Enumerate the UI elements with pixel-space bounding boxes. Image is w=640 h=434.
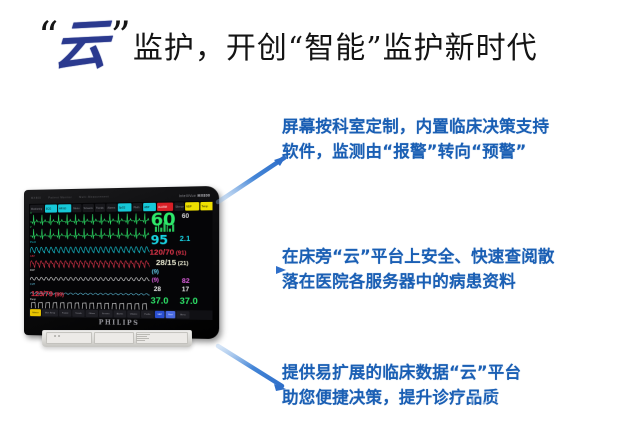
monitor-tab-label-5: Trends	[95, 206, 105, 209]
softkey-label-0: Silence	[32, 312, 39, 314]
numeric-pap-value: 28/15	[156, 259, 176, 267]
numeric-resp-value: 17	[182, 287, 189, 293]
numeric-nbp-mean: (89)	[55, 292, 64, 298]
monitor-tab-label-7: SpO2	[118, 206, 132, 209]
numeric-tblood: 37.0	[151, 296, 169, 305]
softkey-label-11: Menu	[180, 314, 185, 316]
numeric-parameter-panel: 6060952.1120/70(91)28/15(21)(9)(9)822817…	[150, 210, 213, 301]
monitor-tab-label-9: ABP	[143, 205, 156, 208]
softkey-label-1: Main Setup	[45, 312, 55, 314]
softkey-label-7: Volume	[130, 313, 137, 315]
softkey-start[interactable]: Start	[166, 311, 176, 318]
hr-trend-bar	[172, 224, 174, 231]
numeric-pap: 28/15(21)	[156, 259, 188, 268]
monitor-tab-label-3: Menu	[72, 207, 81, 210]
hr-trend-bars	[155, 222, 174, 232]
callout-text-2: 在床旁“云”平台上安全、快速查阅散 落在医院各服务器中的病患资料	[282, 244, 555, 294]
numeric-nbp-value: 123/79	[31, 289, 53, 298]
waveform-trace-ii	[30, 211, 150, 227]
waveform-label-ii: II	[30, 213, 32, 215]
softkey-label-4: Others	[89, 312, 95, 314]
monitor-tab-12[interactable]: NBP	[185, 202, 199, 211]
waveform-label-cvp: CVP	[30, 285, 35, 287]
numeric-tskin-value: 37.0	[180, 296, 198, 305]
page-title: “ 云 ” 监护，开创“智能”监护新时代	[38, 14, 628, 76]
model-prefix: IntelliVue	[179, 193, 196, 198]
numeric-cvp-value: (9)	[152, 270, 159, 276]
monitor-tab-3[interactable]: Menu	[72, 204, 81, 212]
monitor-base-module	[42, 330, 192, 347]
numeric-abp-value: 120/70	[150, 248, 175, 256]
numeric-nbp: 123/79 (89)	[31, 289, 64, 298]
monitor-tab-label-8: Pleth	[133, 206, 143, 209]
monitor-tab-13[interactable]: Temp	[200, 202, 212, 211]
waveform-label-v: V	[30, 227, 32, 229]
numeric-pvc-value: 60	[182, 214, 189, 220]
callout-arrow-3-icon	[214, 340, 290, 396]
waveform-trace-pleth	[30, 241, 150, 256]
softkey-label-6: Alarms	[117, 313, 124, 315]
numeric-abp-extra: (91)	[176, 252, 187, 258]
softkey-patient[interactable]: Patient	[59, 309, 71, 316]
waveform-label-pap: PAP	[30, 270, 35, 272]
monitor-tab-4[interactable]: Screens	[83, 204, 94, 212]
numeric-pap-extra: (21)	[178, 262, 189, 268]
hr-trend-bar	[164, 222, 166, 231]
softkey-silence[interactable]: Silence	[30, 309, 41, 316]
title-rest-text: 监护，开创“智能”监护新时代	[133, 23, 538, 67]
waveform-trace-pap	[30, 270, 150, 285]
numeric-spo2: 95	[151, 234, 168, 247]
monitor-tab-label-1: ECG	[45, 207, 57, 210]
numeric-icp: (9)	[152, 279, 159, 285]
slide-canvas: “ 云 ” 监护，开创“智能”监护新时代 MX800 Patient Monit…	[0, 0, 640, 434]
numeric-perf: 2.1	[180, 236, 191, 243]
monitor-tab-label-10: ALARM	[157, 205, 173, 208]
model-name: MX800	[198, 193, 211, 197]
monitor-screen[interactable]: MonitoringECGHR 60MenuScreensTrendsAlarm…	[29, 201, 213, 320]
softkey-label-3: Trends	[75, 312, 81, 314]
bezel-label-2: Multi-Measurement	[79, 195, 109, 199]
bezel-label-0: MX800	[31, 197, 41, 200]
numeric-awrr-value: 28	[154, 287, 161, 293]
monitor-tab-6[interactable]: Alarms	[106, 203, 116, 211]
patient-monitor-photo: MX800 Patient Monitor Multi-Measurement …	[24, 190, 220, 342]
softkey-screens[interactable]: Screens	[99, 310, 113, 317]
monitor-tab-label-13: Temp	[200, 204, 212, 207]
monitor-tab-1[interactable]: ECG	[45, 204, 57, 212]
waveform-label-resp: Resp	[30, 299, 36, 301]
numeric-awrr: 28	[154, 287, 161, 293]
monitor-tab-5[interactable]: Trends	[95, 204, 105, 212]
numeric-spo2-value: 95	[151, 234, 168, 247]
callout-arrow-2-icon	[228, 262, 290, 278]
softkey-trends[interactable]: Trends	[72, 310, 84, 317]
bezel-label-1: Patient Monitor	[48, 196, 72, 199]
monitor-model-badge: IntelliVue MX800	[179, 193, 211, 198]
monitor-tab-11[interactable]: Silence	[174, 202, 184, 211]
softkey-label-2: Patient	[62, 312, 68, 314]
hr-trend-bar	[155, 227, 157, 232]
numeric-co2-value: 82	[182, 279, 190, 286]
callout-text-3: 提供易扩展的临床数据“云”平台 助您便捷决策，提升诊疗品质	[282, 360, 521, 410]
numeric-pvc: 60	[182, 214, 189, 220]
callout-text-1: 屏幕按科室定制，内置临床决策支持 软件，监测由“报警”转向“预警”	[282, 114, 549, 164]
base-module-center	[94, 332, 134, 344]
monitor-tab-8[interactable]: Pleth	[133, 203, 143, 211]
numeric-abp: 120/70(91)	[150, 248, 187, 257]
monitor-tab-label-0: Monitoring	[30, 207, 44, 210]
title-yun-calligraphy: 云	[53, 17, 108, 74]
base-indicator-dots	[54, 335, 60, 337]
numeric-tblood-value: 37.0	[151, 296, 169, 305]
softkey-profile[interactable]: Profile	[141, 311, 154, 318]
softkey-alarms[interactable]: Alarms	[114, 310, 127, 317]
monitor-tab-label-6: Alarms	[106, 206, 116, 209]
monitor-tab-label-2: HR 60	[58, 207, 71, 210]
monitor-tab-label-11: Silence	[174, 205, 184, 208]
hr-trend-bar	[169, 229, 171, 232]
softkey-others[interactable]: Others	[86, 310, 98, 317]
softkey-label-5: Screens	[102, 313, 110, 315]
callout-arrow-1-icon	[214, 152, 290, 208]
monitor-tab-label-12: NBP	[185, 205, 199, 208]
hr-trend-bar	[161, 228, 163, 232]
hr-trend-bar	[158, 224, 160, 232]
hr-trend-bar	[166, 226, 168, 232]
waveform-trace-abp	[30, 256, 150, 271]
base-module-left	[46, 332, 92, 344]
numeric-tskin: 37.0	[180, 296, 198, 305]
numeric-perf-value: 2.1	[180, 236, 191, 243]
softkey-label-9: NBP	[157, 313, 161, 315]
monitor-tab-0[interactable]: Monitoring	[30, 205, 44, 213]
waveform-label-pleth: Pleth	[30, 242, 36, 244]
softkey-menu[interactable]: Menu	[176, 311, 189, 319]
title-quote-close: ”	[110, 17, 130, 57]
softkey-label-10: Start	[168, 314, 173, 316]
softkey-nbp[interactable]: NBP	[155, 311, 165, 318]
waveform-label-abp: ABP	[30, 256, 35, 258]
softkey-volume[interactable]: Volume	[127, 310, 140, 317]
numeric-cvp: (9)	[152, 270, 159, 276]
monitor-tab-2[interactable]: HR 60	[58, 204, 71, 212]
numeric-resp: 17	[182, 287, 189, 293]
softkey-main-setup[interactable]: Main Setup	[42, 309, 58, 316]
base-connector-lines	[136, 334, 150, 342]
monitor-tab-label-4: Screens	[83, 206, 94, 209]
numeric-co2: 82	[182, 279, 190, 286]
numeric-icp-value: (9)	[152, 279, 159, 285]
softkey-label-8: Profile	[144, 313, 150, 315]
monitor-bezel: MX800 Patient Monitor Multi-Measurement …	[24, 186, 219, 339]
monitor-tab-7[interactable]: SpO2	[118, 203, 132, 211]
waveform-trace-v	[30, 226, 150, 242]
